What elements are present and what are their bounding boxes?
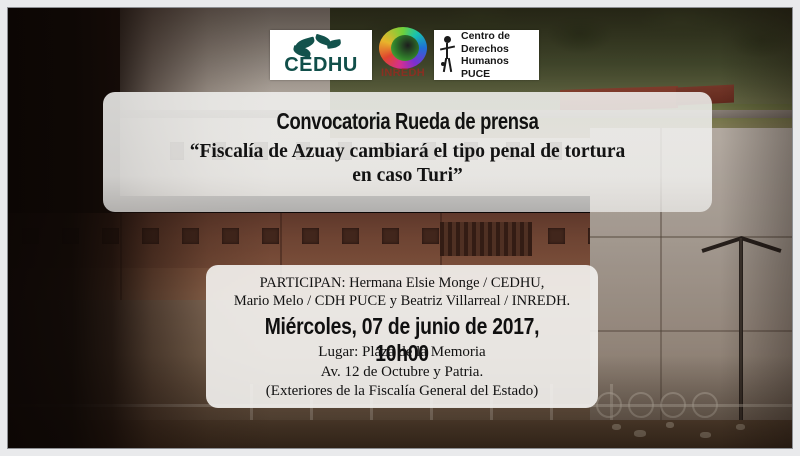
subtitle: “Fiscalía de Azuay cambiará el tipo pena… <box>127 140 688 188</box>
venue-line-1: Lugar: Plaza de la Memoria <box>318 344 485 360</box>
participants-line-2: Mario Melo / CDH PUCE y Beatriz Villarre… <box>234 293 570 309</box>
concrete-seam <box>590 236 800 238</box>
rubble-debris <box>666 422 674 428</box>
inredh-core-icon <box>391 35 419 61</box>
venue-line-3: (Exteriores de la Fiscalía General del E… <box>266 383 538 399</box>
inredh-logo: INREDH <box>377 27 429 83</box>
title-panel: Convocatoria Rueda de prensa “Fiscalía d… <box>103 92 712 212</box>
razor-wire-coil <box>660 392 686 418</box>
rubble-debris <box>634 430 646 437</box>
event-venue: Lugar: Plaza de la Memoria Av. 12 de Oct… <box>212 343 592 402</box>
cell-window <box>342 228 359 244</box>
cell-window <box>182 228 199 244</box>
cdh-logo-line3: PUCE <box>461 68 539 81</box>
cell-window <box>262 228 279 244</box>
rubble-debris <box>700 432 711 438</box>
ground-strip <box>0 420 800 456</box>
rubble-debris <box>612 424 621 430</box>
razor-wire-coil <box>692 392 718 418</box>
venue-line-2: Av. 12 de Octubre y Patria. <box>321 364 483 380</box>
barred-grate <box>440 222 532 256</box>
cell-window <box>62 228 79 244</box>
details-panel: PARTICIPAN: Hermana Elsie Monge / CEDHU,… <box>206 265 598 408</box>
cdh-logo-line2: Derechos Humanos <box>461 43 539 68</box>
razor-wire-coil <box>596 392 622 418</box>
cedhu-logo: CEDHU <box>270 30 372 80</box>
rubble-debris <box>736 424 745 430</box>
inredh-ring-icon <box>379 27 427 69</box>
cell-window <box>382 228 399 244</box>
page-title: Convocatoria Rueda de prensa <box>164 108 651 135</box>
participants-text: PARTICIPAN: Hermana Elsie Monge / CEDHU,… <box>212 274 592 310</box>
cell-window <box>422 228 439 244</box>
press-conference-poster: CEDHU INREDH Centro de Derechos Humanos … <box>0 0 800 456</box>
concrete-seam <box>590 330 800 332</box>
cedhu-logo-text: CEDHU <box>284 55 358 75</box>
razor-wire-coil <box>628 392 654 418</box>
cell-window <box>22 228 39 244</box>
subtitle-line-2: en caso Turi” <box>352 165 463 186</box>
organization-logos: CEDHU INREDH Centro de Derechos Humanos … <box>270 27 539 83</box>
human-figure-icon <box>439 36 457 74</box>
cell-window <box>222 228 239 244</box>
subtitle-line-1: “Fiscalía de Azuay cambiará el tipo pena… <box>190 141 625 162</box>
inredh-logo-text: INREDH <box>377 67 429 79</box>
cell-window <box>142 228 159 244</box>
participants-line-1: PARTICIPAN: Hermana Elsie Monge / CEDHU, <box>260 275 545 291</box>
lamp-post <box>739 238 743 420</box>
cdh-logo-line1: Centro de <box>461 30 539 43</box>
cell-window <box>548 228 565 244</box>
cdh-puce-logo: Centro de Derechos Humanos PUCE <box>434 30 539 80</box>
cell-window <box>302 228 319 244</box>
cell-window <box>102 228 119 244</box>
cedhu-birds-icon <box>293 35 349 55</box>
